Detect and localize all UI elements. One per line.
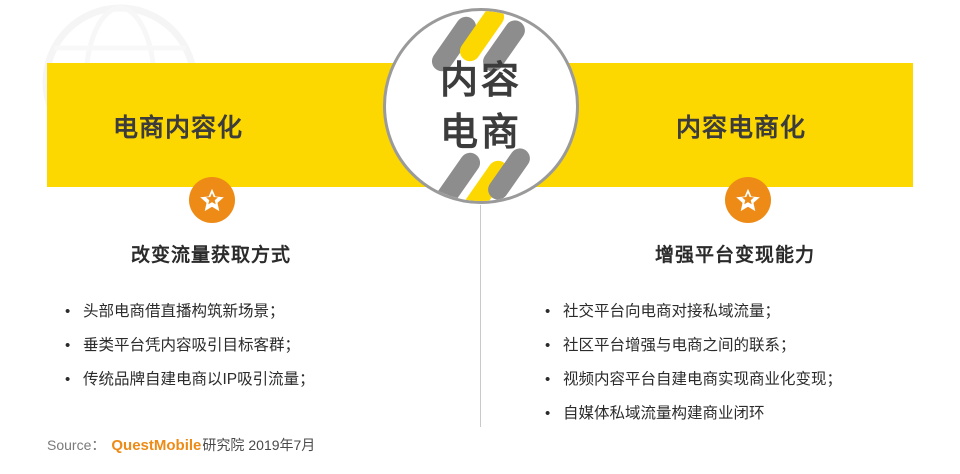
list-item: 垂类平台凭内容吸引目标客群；: [65, 329, 315, 363]
right-column-heading: 增强平台变现能力: [655, 240, 815, 267]
center-title: 内容 电商: [386, 55, 576, 159]
list-item: 传统品牌自建电商以IP吸引流量；: [65, 363, 315, 397]
list-item: 社交平台向电商对接私域流量；: [545, 295, 842, 329]
banner-label-left: 电商内容化: [113, 108, 243, 144]
center-title-line2: 电商: [386, 107, 576, 159]
center-title-line1: 内容: [386, 55, 576, 107]
column-divider: [480, 205, 481, 427]
list-item: 头部电商借直播构筑新场景；: [65, 295, 315, 329]
source-date: 2019年7月: [248, 435, 315, 455]
slide-canvas: 电商内容化 内容电商化 内容 电商 改变流量获取方式 增强平台变现能力 头部电: [0, 0, 960, 474]
star-badge-icon-right: [725, 177, 771, 223]
right-bullet-list: 社交平台向电商对接私域流量； 社区平台增强与电商之间的联系； 视频内容平台自建电…: [545, 295, 842, 431]
brand-suffix: 研究院: [202, 435, 244, 455]
center-circle: 内容 电商: [383, 8, 579, 204]
banner-label-right: 内容电商化: [676, 108, 806, 144]
source-footer: Source： QuestMobile 研究院 2019年7月: [47, 435, 315, 455]
star-badge-icon-left: [189, 177, 235, 223]
list-item: 自媒体私域流量构建商业闭环: [545, 397, 842, 431]
left-bullet-list: 头部电商借直播构筑新场景； 垂类平台凭内容吸引目标客群； 传统品牌自建电商以IP…: [65, 295, 315, 397]
list-item: 社区平台增强与电商之间的联系；: [545, 329, 842, 363]
brand-name: QuestMobile: [111, 437, 201, 454]
left-column-heading: 改变流量获取方式: [131, 240, 291, 267]
list-item: 视频内容平台自建电商实现商业化变现；: [545, 363, 842, 397]
source-label: Source：: [47, 435, 105, 455]
